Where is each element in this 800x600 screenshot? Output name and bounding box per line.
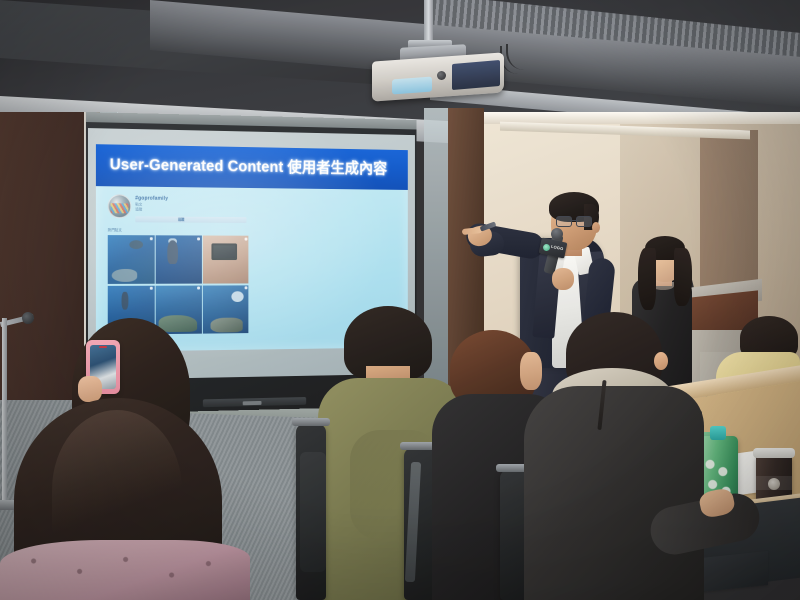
multi-photo-icon <box>150 287 153 290</box>
hashtag-section-label: 熱門貼文 <box>108 228 122 233</box>
projector-pole <box>424 0 433 44</box>
hashtag-follow-button[interactable]: 追蹤 <box>135 216 246 223</box>
grid-photo-tile[interactable] <box>108 235 155 284</box>
cohost-hair-right <box>674 248 692 306</box>
grid-photo-tile[interactable] <box>156 285 202 334</box>
audience1-top-pattern <box>6 548 236 600</box>
chair-frame-top <box>292 418 330 426</box>
grid-photo-tile[interactable] <box>203 285 248 333</box>
hashtag-follow-button-label: 追蹤 <box>178 217 185 222</box>
multi-photo-icon <box>150 237 153 240</box>
projector-lens <box>392 77 432 95</box>
speaker-hand-holding-mic <box>552 268 574 290</box>
hanging-bag <box>300 452 326 572</box>
hashtag-label: #goprofamily <box>135 196 168 202</box>
presentation-photo-scene: User-Generated Content 使用者生成內容 #goprofam… <box>0 0 800 600</box>
bottle-cap <box>710 426 726 440</box>
display-brand-logo <box>243 400 262 404</box>
slide-title: User-Generated Content 使用者生成內容 <box>110 152 403 178</box>
audience5-ear <box>654 352 668 370</box>
eyeglasses-bridge <box>570 220 578 221</box>
multi-photo-icon <box>197 287 200 290</box>
audience5-hoodie <box>524 386 704 600</box>
projector-port-panel <box>452 60 500 90</box>
multi-photo-icon <box>244 237 247 240</box>
multi-photo-icon <box>197 237 200 240</box>
hashtag-avatar-icon <box>108 194 132 218</box>
grid-photo-tile[interactable] <box>156 235 202 284</box>
tripod-stand <box>2 318 7 508</box>
tripod-knob <box>22 312 34 324</box>
hashtag-meta-follow: 追蹤 <box>135 207 142 212</box>
projector-focus-knob <box>437 71 446 80</box>
multi-photo-icon <box>244 287 247 290</box>
audience4-cheek <box>520 352 542 390</box>
grid-photo-tile[interactable] <box>203 236 248 284</box>
coffee-cup-logo-icon <box>768 478 780 490</box>
audience2-hand <box>78 376 102 402</box>
speaker-ear <box>592 222 600 233</box>
coffee-cup-lid <box>753 448 795 458</box>
cohost-hair-left <box>638 248 656 310</box>
smartphone-recording-indicator-icon <box>99 346 107 348</box>
